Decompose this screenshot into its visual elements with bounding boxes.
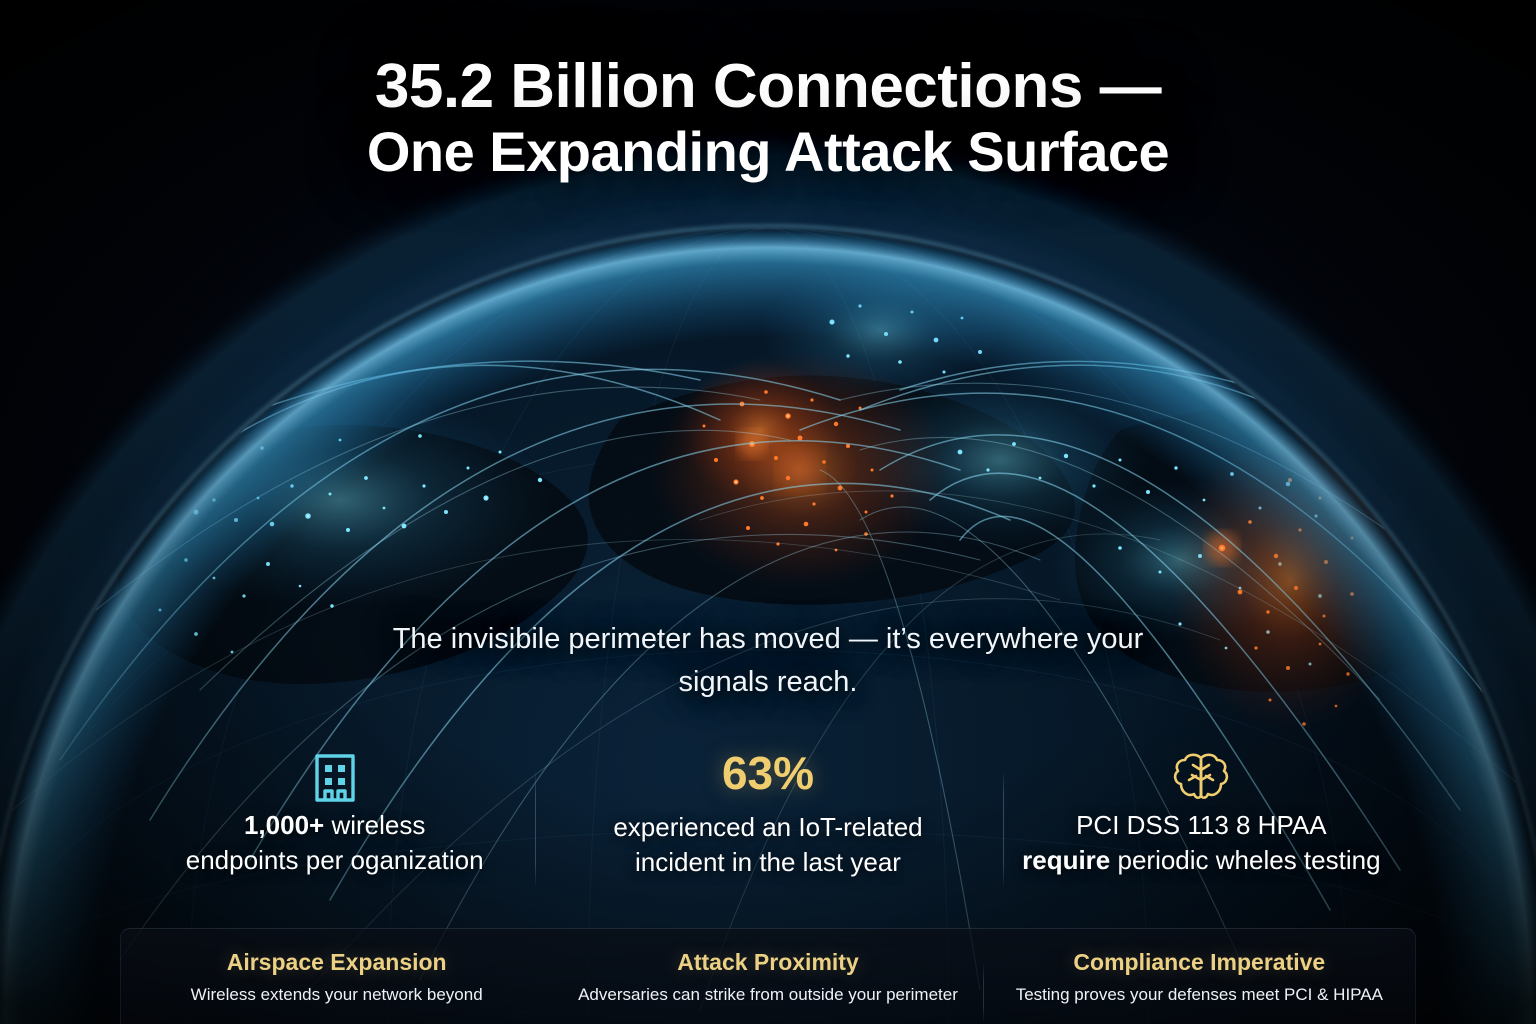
stat-1-label: wireless	[324, 810, 425, 840]
infographic-stage: 35.2 Billion Connections — One Expanding…	[0, 0, 1536, 1024]
stats-divider-2	[1003, 770, 1004, 888]
stat-iot-incident: 63% experienced an IoT-related incident …	[551, 748, 984, 879]
bottom-bar-subtitle-1: Wireless extends your network beyond	[129, 984, 544, 1005]
stat-compliance: PCI DSS 113 8 HPAA require periodic whel…	[985, 748, 1418, 877]
bottom-bar-column-airspace: Airspace Expansion Wireless extends your…	[121, 948, 552, 1005]
stat-2-line-2: incident in the last year	[561, 845, 974, 880]
stat-1-line-2: endpoints per oganization	[128, 843, 541, 878]
stat-3-label: periodic wheles testing	[1110, 845, 1380, 875]
stats-divider-1	[535, 770, 536, 888]
headline-line-1: 35.2 Billion Connections —	[375, 52, 1161, 121]
page-title: 35.2 Billion Connections — One Expanding…	[0, 52, 1536, 184]
stats-row: 1,000+ wireless endpoints per oganizatio…	[118, 748, 1418, 898]
brain-icon	[995, 748, 1408, 808]
bottom-bar-subtitle-2: Adversaries can strike from outside your…	[560, 984, 975, 1005]
bottom-bar-column-compliance: Compliance Imperative Testing proves you…	[984, 948, 1415, 1005]
bottom-bar-title-3: Compliance Imperative	[992, 948, 1407, 977]
building-icon	[128, 748, 541, 808]
content-layer: 35.2 Billion Connections — One Expanding…	[0, 0, 1536, 1024]
bottom-bar: Airspace Expansion Wireless extends your…	[120, 928, 1416, 1024]
bottom-bar-subtitle-3: Testing proves your defenses meet PCI & …	[992, 984, 1407, 1005]
bottom-bar-title-2: Attack Proximity	[560, 948, 975, 977]
bottom-bar-column-attack: Attack Proximity Adversaries can strike …	[552, 948, 983, 1005]
stat-2-line-1: experienced an IoT-related	[561, 810, 974, 845]
stat-3-line-1: PCI DSS 113 8 HPAA	[995, 808, 1408, 843]
stat-1-line-1: 1,000+ wireless	[128, 808, 541, 843]
bottom-bar-title-1: Airspace Expansion	[129, 948, 544, 977]
stat-1-value: 1,000+	[244, 810, 324, 840]
headline-line-2: One Expanding Attack Surface	[0, 121, 1536, 184]
stat-2-value: 63%	[561, 750, 974, 796]
subheadline: The invisibile perimeter has moved — it’…	[353, 618, 1183, 704]
stat-3-emphasis: require	[1022, 845, 1110, 875]
stat-wireless-endpoints: 1,000+ wireless endpoints per oganizatio…	[118, 748, 551, 877]
stat-3-line-2: require periodic wheles testing	[995, 843, 1408, 878]
